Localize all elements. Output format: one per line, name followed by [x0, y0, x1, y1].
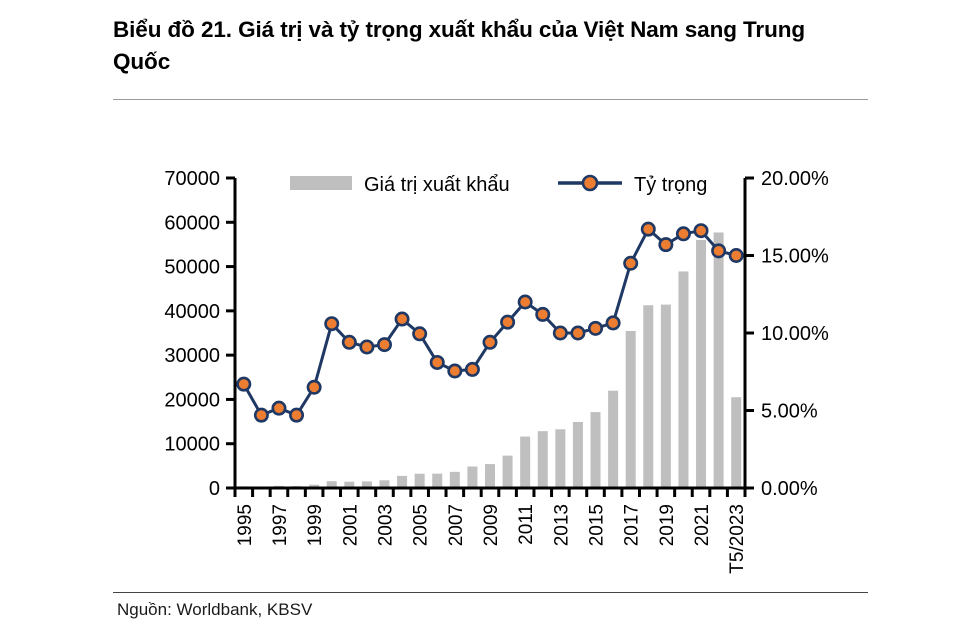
y-axis-left-tick-label: 30000 — [164, 345, 220, 367]
line-marker — [730, 249, 742, 261]
line-marker — [695, 225, 707, 237]
line-marker — [449, 365, 461, 377]
chart-figure: 0100002000030000400005000060000700000.00… — [0, 150, 969, 590]
y-axis-right-tick-label: 10.00% — [761, 323, 829, 345]
y-axis-left-tick-label: 70000 — [164, 168, 220, 190]
bar — [608, 391, 618, 488]
y-axis-right-tick-label: 15.00% — [761, 246, 829, 268]
bar — [538, 431, 548, 488]
bar — [450, 472, 460, 488]
line-marker — [660, 238, 672, 250]
bar — [503, 456, 513, 488]
x-axis-tick-label: 2001 — [340, 504, 361, 546]
legend-label-line: Tỷ trọng — [634, 174, 707, 196]
bar — [678, 271, 688, 488]
line-marker — [537, 308, 549, 320]
line-marker — [712, 245, 724, 257]
y-axis-right-tick-label: 0.00% — [761, 478, 818, 500]
bar — [415, 474, 425, 488]
x-axis-tick-label: 1995 — [235, 504, 256, 546]
line-marker — [343, 336, 355, 348]
bar — [397, 476, 407, 488]
bar — [432, 474, 442, 488]
footer-divider — [113, 592, 868, 593]
line-marker — [273, 402, 285, 414]
line-marker — [413, 328, 425, 340]
line-marker — [466, 363, 478, 375]
bar — [467, 467, 477, 488]
x-axis-tick-label: 2005 — [411, 504, 432, 546]
y-axis-left-tick-label: 10000 — [164, 434, 220, 456]
header-divider — [113, 99, 868, 100]
x-axis-tick-label: 2019 — [657, 504, 678, 546]
line-marker — [431, 356, 443, 368]
x-axis — [235, 488, 745, 497]
page-title: Biểu đồ 21. Giá trị và tỷ trọng xuất khẩ… — [113, 14, 853, 78]
line-marker — [519, 296, 531, 308]
x-axis-tick-label: 2007 — [446, 504, 467, 546]
bar — [591, 412, 601, 488]
line-marker — [624, 257, 636, 269]
bar — [485, 464, 495, 488]
x-axis-tick-label: 1999 — [305, 504, 326, 546]
line-marker — [554, 327, 566, 339]
y-axis-left-tick-label: 20000 — [164, 389, 220, 411]
x-axis-tick-label: 1997 — [270, 504, 291, 546]
x-axis-tick-label: 2009 — [481, 504, 502, 546]
line-marker — [572, 327, 584, 339]
bar — [626, 331, 636, 488]
line-marker — [642, 223, 654, 235]
line-marker — [255, 409, 267, 421]
x-axis-labels: 1995199719992001200320052007200920112013… — [235, 504, 748, 574]
chart-header: Biểu đồ 21. Giá trị và tỷ trọng xuất khẩ… — [113, 14, 868, 78]
y-axis-left-tick-label: 60000 — [164, 212, 220, 234]
x-axis-tick-label: 2013 — [551, 504, 572, 546]
line-marker — [378, 338, 390, 350]
chart-legend: Giá trị xuất khẩuTỷ trọng — [290, 174, 707, 196]
line-marker — [361, 341, 373, 353]
bar — [520, 437, 530, 488]
legend-swatch-bar — [290, 176, 352, 190]
line-marker — [501, 316, 513, 328]
x-axis-tick-label: 2011 — [516, 504, 537, 545]
line-marker — [326, 318, 338, 330]
x-axis-tick-label: 2021 — [692, 504, 713, 546]
bar — [731, 397, 741, 488]
x-axis-tick-label: 2003 — [375, 504, 396, 546]
legend-label-bar: Giá trị xuất khẩu — [364, 174, 510, 196]
bar — [555, 429, 565, 488]
bar-series — [239, 232, 741, 488]
y-axis-left: 010000200003000040000500006000070000 — [164, 168, 235, 500]
y-axis-right-tick-label: 5.00% — [761, 401, 818, 423]
line-marker — [607, 317, 619, 329]
line-marker — [589, 322, 601, 334]
bar — [573, 422, 583, 488]
y-axis-right: 0.00%5.00%10.00%15.00%20.00% — [745, 168, 829, 500]
line-marker — [290, 409, 302, 421]
y-axis-right-tick-label: 20.00% — [761, 168, 829, 190]
x-axis-tick-label: T5/2023 — [727, 504, 748, 574]
y-axis-left-tick-label: 40000 — [164, 301, 220, 323]
line-marker — [677, 228, 689, 240]
x-axis-tick-label: 2015 — [587, 504, 608, 546]
bar — [714, 232, 724, 488]
bar — [696, 240, 706, 488]
x-axis-tick-label: 2017 — [622, 504, 643, 546]
line-marker — [396, 313, 408, 325]
line-marker — [238, 378, 250, 390]
y-axis-left-tick-label: 0 — [209, 478, 220, 500]
bar — [661, 305, 671, 488]
legend-swatch-marker — [583, 176, 597, 190]
y-axis-left-tick-label: 50000 — [164, 257, 220, 279]
source-note: Nguồn: Worldbank, KBSV — [117, 600, 312, 620]
bar — [643, 305, 653, 488]
line-marker — [308, 381, 320, 393]
chart-canvas: 0100002000030000400005000060000700000.00… — [0, 150, 969, 590]
line-marker — [484, 336, 496, 348]
